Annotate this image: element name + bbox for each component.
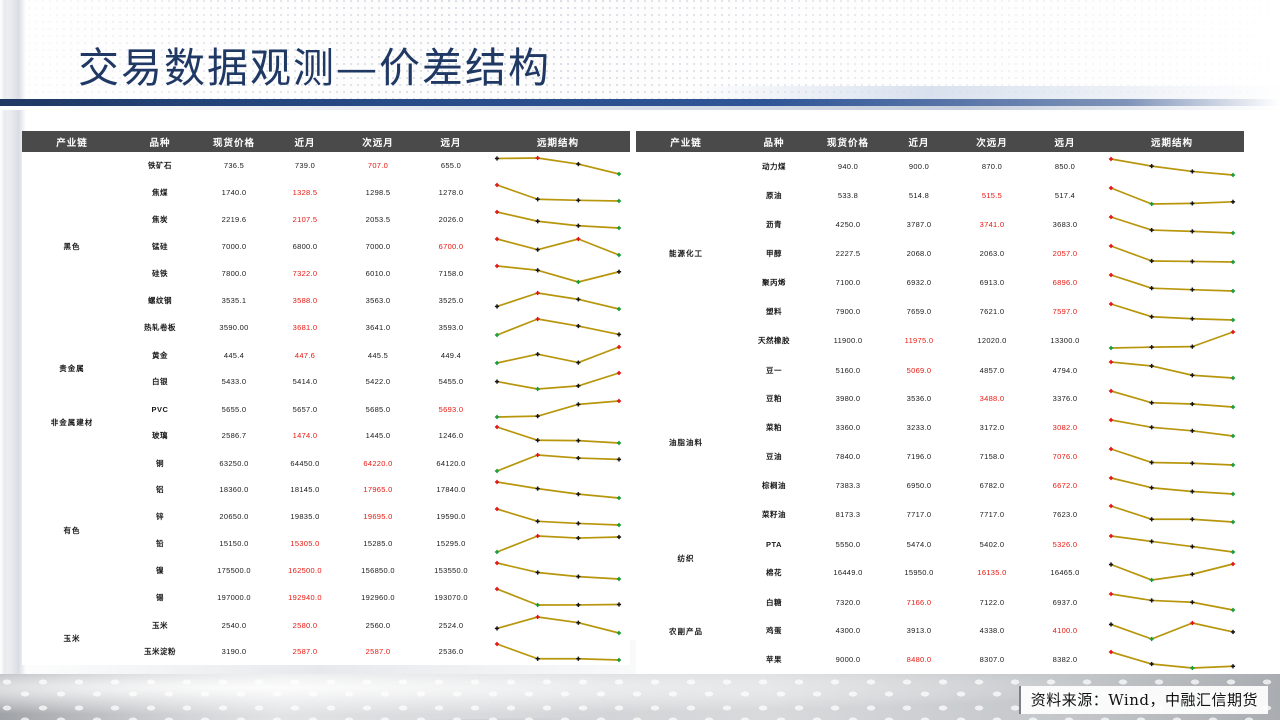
price-cell-mid: 4857.0 <box>954 355 1030 384</box>
price-cell-far: 17840.0 <box>416 476 486 503</box>
price-cell-mid: 5422.0 <box>340 368 416 395</box>
industry-chain-cell: 黑色 <box>22 152 122 341</box>
price-cell-far: 1278.0 <box>416 179 486 206</box>
price-cell-mid: 1445.0 <box>340 422 416 449</box>
price-cell-mid: 445.5 <box>340 341 416 368</box>
price-cell-spot: 197000.0 <box>198 584 270 611</box>
forward-structure-sparkline <box>486 557 630 584</box>
variety-cell: 焦炭 <box>122 206 198 233</box>
column-header-1: 品种 <box>122 131 198 152</box>
forward-structure-sparkline <box>486 368 630 395</box>
variety-cell: 沥青 <box>736 210 812 239</box>
price-cell-spot: 7000.0 <box>198 233 270 260</box>
left-table-panel: 产业链品种现货价格近月次远月远月远期结构 黑色铁矿石736.5739.0707.… <box>22 131 630 681</box>
price-cell-near: 2580.0 <box>270 611 340 638</box>
price-cell-near: 1328.5 <box>270 179 340 206</box>
price-cell-spot: 2540.0 <box>198 611 270 638</box>
price-cell-spot: 7100.0 <box>812 268 884 297</box>
forward-structure-sparkline <box>1100 587 1244 616</box>
price-cell-near: 3681.0 <box>270 314 340 341</box>
variety-cell: 聚丙烯 <box>736 268 812 297</box>
variety-cell: 棉花 <box>736 558 812 587</box>
price-cell-near: 2107.5 <box>270 206 340 233</box>
industry-chain-cell: 纺织 <box>636 529 736 587</box>
variety-cell: 焦煤 <box>122 179 198 206</box>
price-cell-spot: 7840.0 <box>812 442 884 471</box>
price-cell-spot: 3190.0 <box>198 638 270 665</box>
price-cell-mid: 4338.0 <box>954 616 1030 645</box>
price-cell-near: 6800.0 <box>270 233 340 260</box>
price-cell-near: 6950.0 <box>884 471 954 500</box>
variety-cell: 铝 <box>122 476 198 503</box>
price-cell-spot: 9000.0 <box>812 645 884 674</box>
variety-cell: 天然橡胶 <box>736 326 812 355</box>
industry-chain-cell: 能源化工 <box>636 152 736 355</box>
variety-cell: 豆粕 <box>736 384 812 413</box>
forward-structure-sparkline <box>1100 558 1244 587</box>
table-header-row: 产业链品种现货价格近月次远月远月远期结构 <box>636 131 1244 152</box>
price-cell-mid: 6782.0 <box>954 471 1030 500</box>
price-cell-near: 3913.0 <box>884 616 954 645</box>
variety-cell: 铜 <box>122 449 198 476</box>
price-cell-near: 7659.0 <box>884 297 954 326</box>
price-cell-far: 850.0 <box>1030 152 1100 181</box>
price-cell-mid: 6010.0 <box>340 260 416 287</box>
column-header-6: 远期结构 <box>486 131 630 152</box>
table-row[interactable]: 能源化工动力煤940.0900.0870.0850.0 <box>636 152 1244 181</box>
variety-cell: 棕榈油 <box>736 471 812 500</box>
price-cell-near: 64450.0 <box>270 449 340 476</box>
price-cell-spot: 5433.0 <box>198 368 270 395</box>
variety-cell: 鸡蛋 <box>736 616 812 645</box>
price-cell-near: 5657.0 <box>270 395 340 422</box>
price-cell-far: 64120.0 <box>416 449 486 476</box>
forward-structure-sparkline <box>486 152 630 179</box>
price-cell-far: 6672.0 <box>1030 471 1100 500</box>
variety-cell: PTA <box>736 529 812 558</box>
price-cell-mid: 707.0 <box>340 152 416 179</box>
table-row[interactable]: 黑色铁矿石736.5739.0707.0655.0 <box>22 152 630 179</box>
forward-structure-sparkline <box>486 260 630 287</box>
variety-cell: 原油 <box>736 181 812 210</box>
forward-structure-sparkline <box>486 530 630 557</box>
price-cell-far: 7076.0 <box>1030 442 1100 471</box>
price-cell-far: 2524.0 <box>416 611 486 638</box>
price-cell-mid: 2560.0 <box>340 611 416 638</box>
price-cell-mid: 7717.0 <box>954 500 1030 529</box>
forward-structure-sparkline <box>486 476 630 503</box>
page-title: 交易数据观测—价差结构 <box>78 34 551 94</box>
price-cell-spot: 445.4 <box>198 341 270 368</box>
forward-structure-sparkline <box>1100 529 1244 558</box>
price-cell-near: 7196.0 <box>884 442 954 471</box>
variety-cell: 铅 <box>122 530 198 557</box>
price-cell-far: 6896.0 <box>1030 268 1100 297</box>
source-note: 资料来源：Wind，中融汇信期货 <box>1019 686 1268 714</box>
price-cell-far: 193070.0 <box>416 584 486 611</box>
forward-structure-sparkline <box>1100 326 1244 355</box>
price-cell-far: 16465.0 <box>1030 558 1100 587</box>
industry-chain-cell: 有色 <box>22 449 122 611</box>
table-row[interactable]: 贵金属黄金445.4447.6445.5449.4 <box>22 341 630 368</box>
price-cell-mid: 2587.0 <box>340 638 416 665</box>
price-cell-near: 192940.0 <box>270 584 340 611</box>
forward-structure-sparkline <box>486 341 630 368</box>
price-cell-near: 739.0 <box>270 152 340 179</box>
forward-structure-sparkline <box>1100 645 1244 674</box>
price-cell-far: 6937.0 <box>1030 587 1100 616</box>
forward-structure-sparkline <box>1100 239 1244 268</box>
forward-structure-sparkline <box>486 638 630 665</box>
price-cell-mid: 1298.5 <box>340 179 416 206</box>
right-commodity-table: 产业链品种现货价格近月次远月远月远期结构 能源化工动力煤940.0900.087… <box>636 131 1244 674</box>
price-cell-spot: 3980.0 <box>812 384 884 413</box>
price-cell-near: 3588.0 <box>270 287 340 314</box>
variety-cell: 苹果 <box>736 645 812 674</box>
price-cell-near: 6932.0 <box>884 268 954 297</box>
variety-cell: 螺纹钢 <box>122 287 198 314</box>
forward-structure-sparkline <box>1100 442 1244 471</box>
column-header-0: 产业链 <box>636 131 736 152</box>
price-cell-far: 2057.0 <box>1030 239 1100 268</box>
price-cell-near: 3536.0 <box>884 384 954 413</box>
price-cell-near: 8480.0 <box>884 645 954 674</box>
price-cell-mid: 3741.0 <box>954 210 1030 239</box>
column-header-4: 次远月 <box>954 131 1030 152</box>
price-cell-near: 514.8 <box>884 181 954 210</box>
forward-structure-sparkline <box>486 422 630 449</box>
price-cell-near: 2587.0 <box>270 638 340 665</box>
price-cell-spot: 5655.0 <box>198 395 270 422</box>
forward-structure-sparkline <box>486 584 630 611</box>
column-header-1: 品种 <box>736 131 812 152</box>
variety-cell: 豆一 <box>736 355 812 384</box>
price-cell-spot: 7383.3 <box>812 471 884 500</box>
table-row[interactable]: 有色铜63250.064450.064220.064120.0 <box>22 449 630 476</box>
variety-cell: 玉米淀粉 <box>122 638 198 665</box>
price-cell-far: 517.4 <box>1030 181 1100 210</box>
variety-cell: 菜籽油 <box>736 500 812 529</box>
price-cell-mid: 156850.0 <box>340 557 416 584</box>
price-cell-far: 7597.0 <box>1030 297 1100 326</box>
table-row[interactable]: 农副产品白糖7320.07166.07122.06937.0 <box>636 587 1244 616</box>
price-cell-spot: 940.0 <box>812 152 884 181</box>
price-cell-far: 5326.0 <box>1030 529 1100 558</box>
price-cell-near: 2068.0 <box>884 239 954 268</box>
price-cell-spot: 63250.0 <box>198 449 270 476</box>
title-underline-bar <box>0 99 1280 106</box>
forward-structure-sparkline <box>486 449 630 476</box>
forward-structure-sparkline <box>1100 210 1244 239</box>
price-cell-near: 15950.0 <box>884 558 954 587</box>
forward-structure-sparkline <box>486 206 630 233</box>
forward-structure-sparkline <box>486 314 630 341</box>
variety-cell: 甲醇 <box>736 239 812 268</box>
price-cell-far: 5693.0 <box>416 395 486 422</box>
price-cell-far: 3082.0 <box>1030 413 1100 442</box>
price-cell-mid: 192960.0 <box>340 584 416 611</box>
price-cell-near: 7322.0 <box>270 260 340 287</box>
variety-cell: 热轧卷板 <box>122 314 198 341</box>
forward-structure-sparkline <box>486 287 630 314</box>
industry-chain-cell: 玉米 <box>22 611 122 665</box>
forward-structure-sparkline <box>1100 384 1244 413</box>
price-cell-near: 7717.0 <box>884 500 954 529</box>
price-cell-mid: 5402.0 <box>954 529 1030 558</box>
price-cell-far: 5455.0 <box>416 368 486 395</box>
price-cell-near: 3233.0 <box>884 413 954 442</box>
price-cell-mid: 64220.0 <box>340 449 416 476</box>
price-cell-near: 15305.0 <box>270 530 340 557</box>
variety-cell: 菜粕 <box>736 413 812 442</box>
price-cell-far: 449.4 <box>416 341 486 368</box>
price-cell-mid: 870.0 <box>954 152 1030 181</box>
price-cell-spot: 3360.0 <box>812 413 884 442</box>
price-cell-near: 900.0 <box>884 152 954 181</box>
table-header-row: 产业链品种现货价格近月次远月远月远期结构 <box>22 131 630 152</box>
forward-structure-sparkline <box>486 611 630 638</box>
forward-structure-sparkline <box>1100 500 1244 529</box>
variety-cell: 黄金 <box>122 341 198 368</box>
variety-cell: 动力煤 <box>736 152 812 181</box>
column-header-2: 现货价格 <box>812 131 884 152</box>
price-cell-spot: 175500.0 <box>198 557 270 584</box>
price-cell-mid: 6913.0 <box>954 268 1030 297</box>
variety-cell: 玻璃 <box>122 422 198 449</box>
price-cell-spot: 16449.0 <box>812 558 884 587</box>
variety-cell: 白糖 <box>736 587 812 616</box>
price-cell-mid: 16135.0 <box>954 558 1030 587</box>
price-cell-mid: 5685.0 <box>340 395 416 422</box>
variety-cell: 白银 <box>122 368 198 395</box>
price-cell-mid: 3172.0 <box>954 413 1030 442</box>
price-cell-spot: 2586.7 <box>198 422 270 449</box>
column-header-0: 产业链 <box>22 131 122 152</box>
price-cell-spot: 7900.0 <box>812 297 884 326</box>
variety-cell: 豆油 <box>736 442 812 471</box>
column-header-3: 近月 <box>270 131 340 152</box>
forward-structure-sparkline <box>1100 297 1244 326</box>
price-cell-mid: 7621.0 <box>954 297 1030 326</box>
price-cell-spot: 20650.0 <box>198 503 270 530</box>
column-header-6: 远期结构 <box>1100 131 1244 152</box>
price-cell-near: 5414.0 <box>270 368 340 395</box>
price-cell-far: 3376.0 <box>1030 384 1100 413</box>
price-cell-near: 18145.0 <box>270 476 340 503</box>
price-cell-spot: 5550.0 <box>812 529 884 558</box>
price-cell-far: 7158.0 <box>416 260 486 287</box>
forward-structure-sparkline <box>486 395 630 422</box>
forward-structure-sparkline <box>1100 355 1244 384</box>
price-cell-far: 7623.0 <box>1030 500 1100 529</box>
price-cell-near: 3787.0 <box>884 210 954 239</box>
price-cell-far: 15295.0 <box>416 530 486 557</box>
table-row[interactable]: 纺织PTA5550.05474.05402.05326.0 <box>636 529 1244 558</box>
price-cell-spot: 3535.1 <box>198 287 270 314</box>
price-cell-mid: 8307.0 <box>954 645 1030 674</box>
forward-structure-sparkline <box>1100 616 1244 645</box>
price-cell-mid: 15285.0 <box>340 530 416 557</box>
price-cell-far: 6700.0 <box>416 233 486 260</box>
price-cell-spot: 8173.3 <box>812 500 884 529</box>
price-cell-mid: 3488.0 <box>954 384 1030 413</box>
variety-cell: 铁矿石 <box>122 152 198 179</box>
price-cell-spot: 4300.0 <box>812 616 884 645</box>
column-header-5: 远月 <box>1030 131 1100 152</box>
price-cell-far: 3525.0 <box>416 287 486 314</box>
price-cell-mid: 7000.0 <box>340 233 416 260</box>
price-cell-spot: 5160.0 <box>812 355 884 384</box>
price-cell-spot: 11900.0 <box>812 326 884 355</box>
price-cell-spot: 533.8 <box>812 181 884 210</box>
price-cell-far: 153550.0 <box>416 557 486 584</box>
column-header-4: 次远月 <box>340 131 416 152</box>
forward-structure-sparkline <box>1100 152 1244 181</box>
industry-chain-cell: 农副产品 <box>636 587 736 674</box>
table-row[interactable]: 非金属建材PVC5655.05657.05685.05693.0 <box>22 395 630 422</box>
price-cell-spot: 15150.0 <box>198 530 270 557</box>
price-cell-near: 1474.0 <box>270 422 340 449</box>
price-cell-near: 5069.0 <box>884 355 954 384</box>
price-cell-far: 4794.0 <box>1030 355 1100 384</box>
price-cell-near: 11975.0 <box>884 326 954 355</box>
forward-structure-sparkline <box>486 179 630 206</box>
forward-structure-sparkline <box>486 233 630 260</box>
price-cell-far: 3593.0 <box>416 314 486 341</box>
forward-structure-sparkline <box>1100 268 1244 297</box>
price-cell-mid: 19695.0 <box>340 503 416 530</box>
price-cell-far: 19590.0 <box>416 503 486 530</box>
price-cell-spot: 736.5 <box>198 152 270 179</box>
column-header-5: 远月 <box>416 131 486 152</box>
variety-cell: 玉米 <box>122 611 198 638</box>
price-cell-spot: 7320.0 <box>812 587 884 616</box>
price-cell-mid: 3641.0 <box>340 314 416 341</box>
price-cell-near: 447.6 <box>270 341 340 368</box>
price-cell-near: 19835.0 <box>270 503 340 530</box>
forward-structure-sparkline <box>486 503 630 530</box>
column-header-3: 近月 <box>884 131 954 152</box>
price-cell-mid: 3563.0 <box>340 287 416 314</box>
price-cell-near: 7166.0 <box>884 587 954 616</box>
right-table-panel: 产业链品种现货价格近月次远月远月远期结构 能源化工动力煤940.0900.087… <box>636 131 1244 681</box>
industry-chain-cell: 油脂油料 <box>636 355 736 529</box>
price-cell-far: 2536.0 <box>416 638 486 665</box>
variety-cell: 锡 <box>122 584 198 611</box>
price-cell-mid: 515.5 <box>954 181 1030 210</box>
price-cell-mid: 2063.0 <box>954 239 1030 268</box>
variety-cell: 锰硅 <box>122 233 198 260</box>
price-cell-mid: 12020.0 <box>954 326 1030 355</box>
price-cell-mid: 2053.5 <box>340 206 416 233</box>
left-commodity-table: 产业链品种现货价格近月次远月远月远期结构 黑色铁矿石736.5739.0707.… <box>22 131 630 665</box>
industry-chain-cell: 非金属建材 <box>22 395 122 449</box>
price-cell-far: 1246.0 <box>416 422 486 449</box>
variety-cell: PVC <box>122 395 198 422</box>
table-row[interactable]: 玉米玉米2540.02580.02560.02524.0 <box>22 611 630 638</box>
table-row[interactable]: 油脂油料豆一5160.05069.04857.04794.0 <box>636 355 1244 384</box>
forward-structure-sparkline <box>1100 413 1244 442</box>
variety-cell: 塑料 <box>736 297 812 326</box>
price-cell-mid: 17965.0 <box>340 476 416 503</box>
industry-chain-cell: 贵金属 <box>22 341 122 395</box>
price-cell-spot: 3590.00 <box>198 314 270 341</box>
price-cell-mid: 7158.0 <box>954 442 1030 471</box>
price-cell-spot: 18360.0 <box>198 476 270 503</box>
variety-cell: 镍 <box>122 557 198 584</box>
price-cell-spot: 2219.6 <box>198 206 270 233</box>
forward-structure-sparkline <box>1100 181 1244 210</box>
price-cell-far: 2026.0 <box>416 206 486 233</box>
price-cell-far: 4100.0 <box>1030 616 1100 645</box>
price-cell-far: 3683.0 <box>1030 210 1100 239</box>
title-underline-bar-secondary <box>0 106 1280 110</box>
price-cell-spot: 1740.0 <box>198 179 270 206</box>
tables-container: 产业链品种现货价格近月次远月远月远期结构 黑色铁矿石736.5739.0707.… <box>22 131 1258 681</box>
variety-cell: 硅铁 <box>122 260 198 287</box>
price-cell-near: 5474.0 <box>884 529 954 558</box>
column-header-2: 现货价格 <box>198 131 270 152</box>
price-cell-spot: 7800.0 <box>198 260 270 287</box>
price-cell-far: 13300.0 <box>1030 326 1100 355</box>
price-cell-far: 655.0 <box>416 152 486 179</box>
forward-structure-sparkline <box>1100 471 1244 500</box>
price-cell-spot: 2227.5 <box>812 239 884 268</box>
variety-cell: 锌 <box>122 503 198 530</box>
price-cell-near: 162500.0 <box>270 557 340 584</box>
price-cell-spot: 4250.0 <box>812 210 884 239</box>
price-cell-mid: 7122.0 <box>954 587 1030 616</box>
price-cell-far: 8382.0 <box>1030 645 1100 674</box>
